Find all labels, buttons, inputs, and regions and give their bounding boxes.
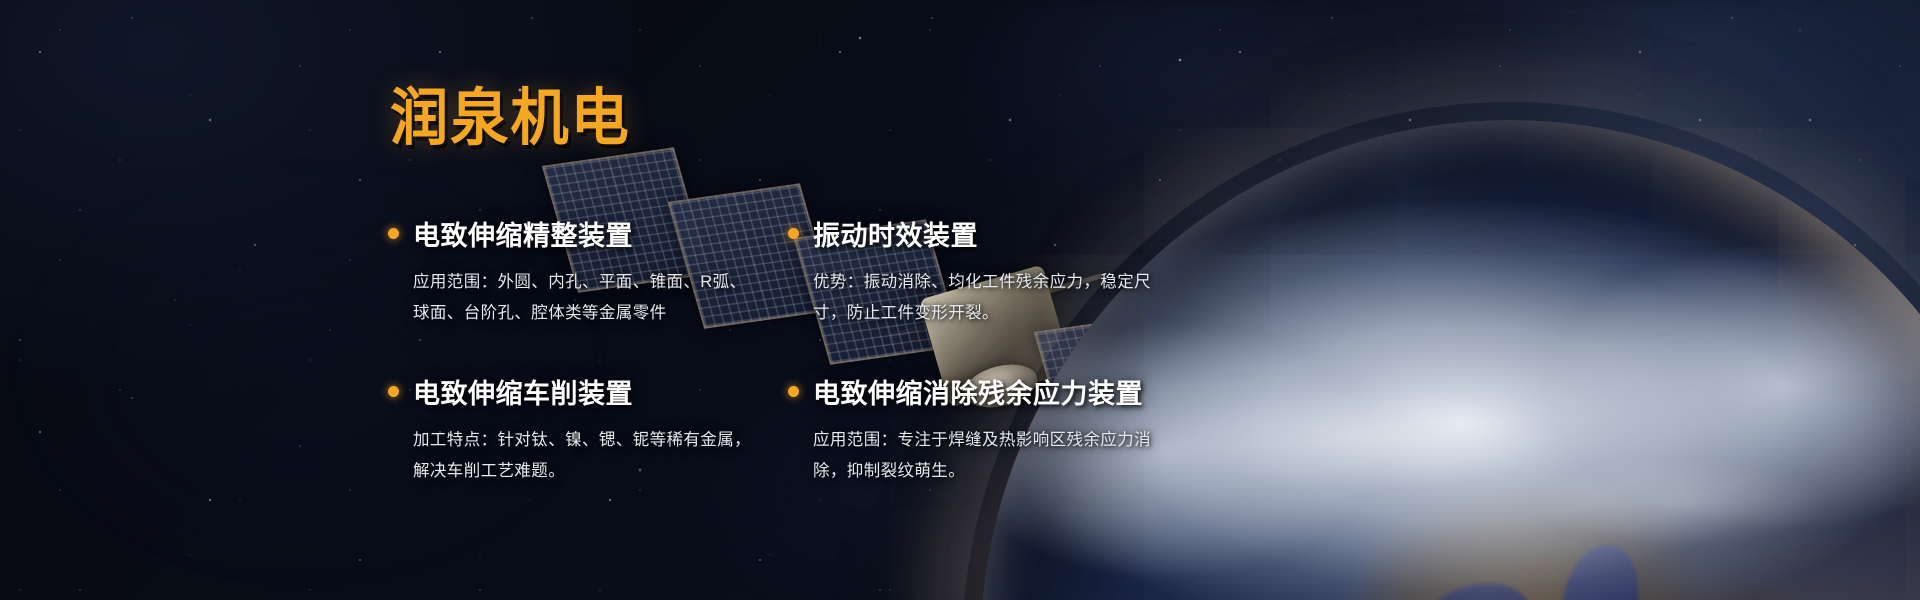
- feature-card-2[interactable]: 振动时效装置 优势：振动消除、均化工件残余应力，稳定尺寸，防止工件变形开裂。: [788, 214, 1188, 328]
- feature-heading: 电致伸缩消除残余应力装置: [788, 372, 1188, 411]
- feature-card-4[interactable]: 电致伸缩消除残余应力装置 应用范围：专注于焊缝及热影响区残余应力消除，抑制裂纹萌…: [788, 372, 1188, 486]
- feature-description: 优势：振动消除、均化工件残余应力，稳定尺寸，防止工件变形开裂。: [813, 267, 1165, 328]
- feature-card-1[interactable]: 电致伸缩精整装置 应用范围：外圆、内孔、平面、锥面、R弧、球面、台阶孔、腔体类等…: [388, 214, 756, 328]
- feature-description: 应用范围：专注于焊缝及热影响区残余应力消除，抑制裂纹萌生。: [813, 425, 1165, 486]
- bullet-dot-icon: [388, 228, 399, 239]
- feature-description: 加工特点：针对钛、镍、锶、铌等稀有金属，解决车削工艺难题。: [413, 425, 753, 486]
- feature-title: 电致伸缩车削装置: [413, 372, 633, 411]
- hero-banner: 润泉机电 电致伸缩精整装置 应用范围：外圆、内孔、平面、锥面、R弧、球面、台阶孔…: [0, 0, 1920, 600]
- feature-heading: 电致伸缩精整装置: [388, 214, 756, 253]
- feature-title: 电致伸缩消除残余应力装置: [813, 372, 1143, 411]
- feature-title: 振动时效装置: [813, 214, 978, 253]
- bullet-dot-icon: [788, 228, 799, 239]
- brand-title: 润泉机电: [390, 88, 631, 150]
- feature-title: 电致伸缩精整装置: [413, 214, 633, 253]
- banner-content: 润泉机电 电致伸缩精整装置 应用范围：外圆、内孔、平面、锥面、R弧、球面、台阶孔…: [0, 0, 1920, 600]
- feature-grid: 电致伸缩精整装置 应用范围：外圆、内孔、平面、锥面、R弧、球面、台阶孔、腔体类等…: [388, 214, 1188, 486]
- feature-heading: 振动时效装置: [788, 214, 1188, 253]
- feature-card-3[interactable]: 电致伸缩车削装置 加工特点：针对钛、镍、锶、铌等稀有金属，解决车削工艺难题。: [388, 372, 756, 486]
- bullet-dot-icon: [388, 386, 399, 397]
- feature-description: 应用范围：外圆、内孔、平面、锥面、R弧、球面、台阶孔、腔体类等金属零件: [413, 267, 753, 328]
- bullet-dot-icon: [788, 386, 799, 397]
- feature-heading: 电致伸缩车削装置: [388, 372, 756, 411]
